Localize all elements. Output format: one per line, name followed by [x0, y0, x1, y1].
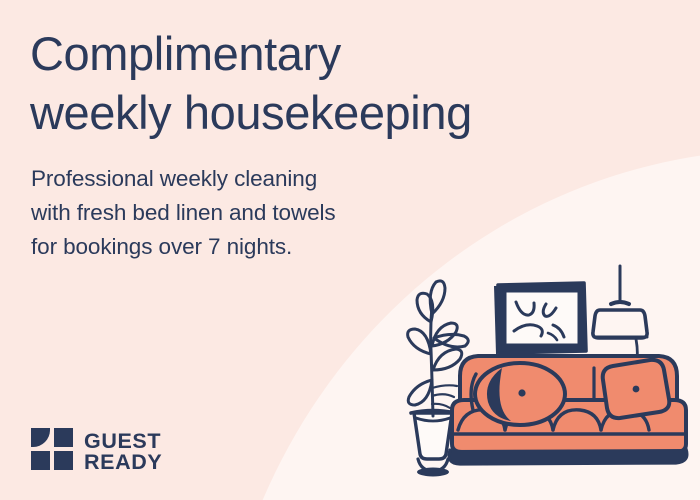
guestready-quadrant-mark-icon	[31, 428, 73, 475]
headline: Complimentary weekly housekeeping	[30, 24, 630, 142]
logo-word-line-2: READY	[84, 452, 162, 473]
logo-word-line-1: GUEST	[84, 431, 162, 452]
promo-banner: Complimentary weekly housekeeping Profes…	[0, 0, 700, 500]
guestready-logo: GUEST READY	[31, 428, 162, 475]
round-cushion-icon	[475, 363, 565, 425]
pendant-lamp-icon	[593, 266, 647, 359]
living-room-illustration	[398, 258, 698, 500]
subheadline-description: Professional weekly cleaning with fresh …	[31, 162, 461, 263]
throw-pillow-icon	[603, 360, 670, 418]
logo-wordmark: GUEST READY	[84, 431, 162, 473]
banner-content: Complimentary weekly housekeeping Profes…	[0, 0, 700, 500]
framed-picture-icon	[494, 283, 586, 354]
